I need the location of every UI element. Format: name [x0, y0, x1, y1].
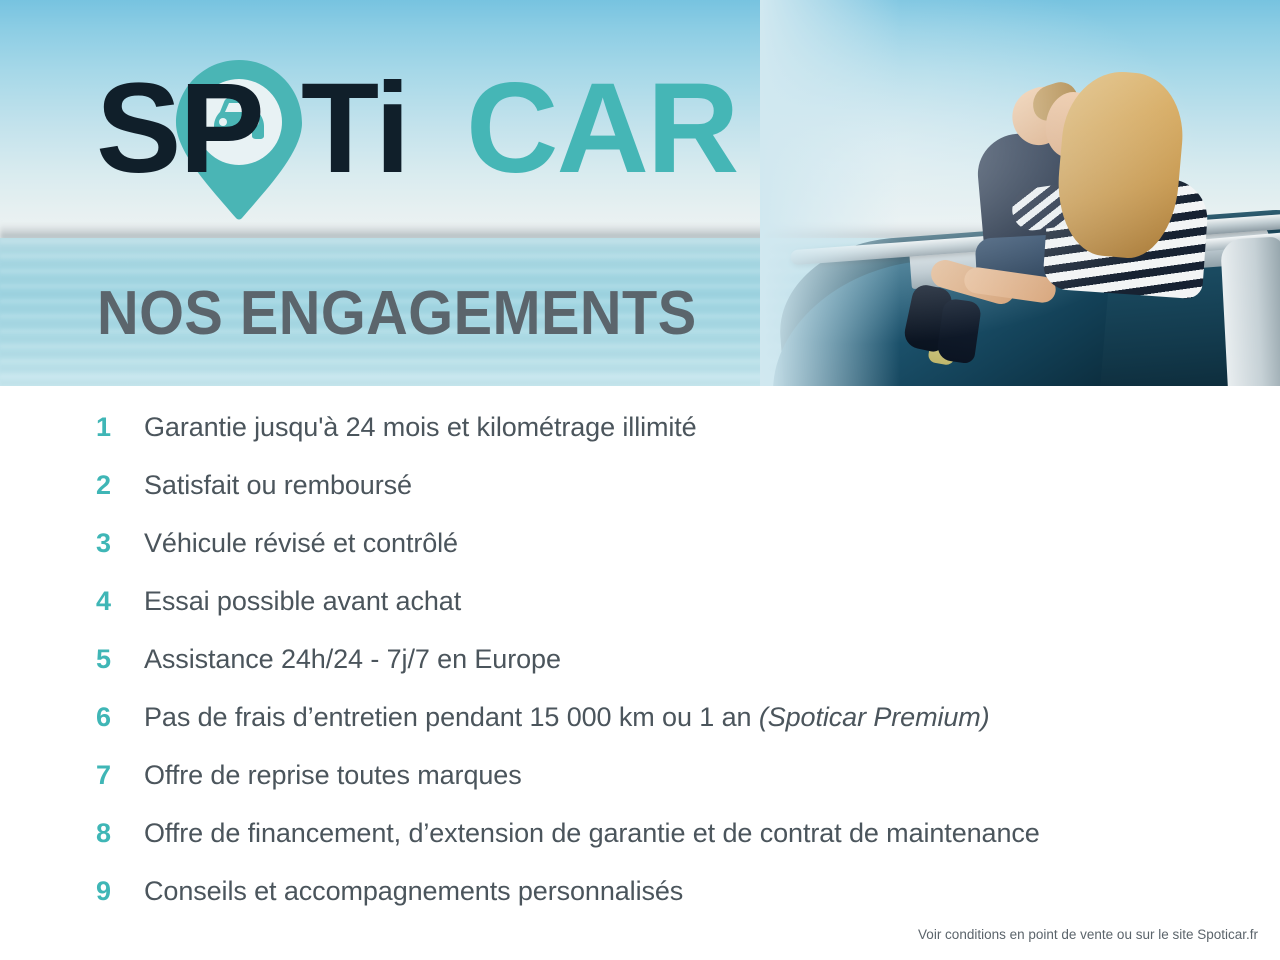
hero-banner: SP Ti CAR NOS ENGAGEMENTS: [0, 0, 1280, 386]
list-item: 7 Offre de reprise toutes marques: [96, 762, 1226, 820]
list-item-text: Garantie jusqu'à 24 mois et kilométrage …: [144, 414, 697, 441]
car-side-pillar-shape: [1220, 236, 1280, 386]
list-item-number: 9: [96, 878, 144, 905]
list-item-number: 6: [96, 704, 144, 731]
list-item-number: 8: [96, 820, 144, 847]
list-item-number: 1: [96, 414, 144, 441]
list-item-number: 2: [96, 472, 144, 499]
list-item-text: Véhicule révisé et contrôlé: [144, 530, 458, 557]
list-item-text: Assistance 24h/24 - 7j/7 en Europe: [144, 646, 561, 673]
list-item-number: 5: [96, 646, 144, 673]
commitments-list: 1 Garantie jusqu'à 24 mois et kilométrag…: [96, 414, 1226, 936]
list-item-text: Essai possible avant achat: [144, 588, 461, 615]
logo-text-car: CAR: [466, 57, 737, 200]
spoticar-logo-svg: SP Ti CAR: [96, 52, 756, 224]
list-item-text: Satisfait ou remboursé: [144, 472, 412, 499]
logo-text-ti: Ti: [301, 57, 408, 200]
spoticar-commitments-poster: SP Ti CAR NOS ENGAGEMENTS 1 Garantie jus…: [0, 0, 1280, 960]
spoticar-logo: SP Ti CAR: [96, 52, 756, 222]
list-item: 8 Offre de financement, d’extension de g…: [96, 820, 1226, 878]
list-item-number: 7: [96, 762, 144, 789]
list-item-number: 4: [96, 588, 144, 615]
list-item: 4 Essai possible avant achat: [96, 588, 1226, 646]
list-item-number: 3: [96, 530, 144, 557]
page-title: NOS ENGAGEMENTS: [97, 283, 697, 345]
list-item-text: Pas de frais d’entretien pendant 15 000 …: [144, 704, 990, 731]
list-item: 5 Assistance 24h/24 - 7j/7 en Europe: [96, 646, 1226, 704]
legal-disclaimer: Voir conditions en point de vente ou sur…: [918, 927, 1258, 942]
list-item: 2 Satisfait ou remboursé: [96, 472, 1226, 530]
list-item: 1 Garantie jusqu'à 24 mois et kilométrag…: [96, 414, 1226, 472]
list-item: 6 Pas de frais d’entretien pendant 15 00…: [96, 704, 1226, 762]
list-item-text: Conseils et accompagnements personnalisé…: [144, 878, 683, 905]
list-item: 3 Véhicule révisé et contrôlé: [96, 530, 1226, 588]
list-item-text: Offre de financement, d’extension de gar…: [144, 820, 1040, 847]
logo-text-sp: SP: [96, 57, 263, 200]
list-item-text: Offre de reprise toutes marques: [144, 762, 522, 789]
family-on-car-photo: [760, 0, 1280, 386]
